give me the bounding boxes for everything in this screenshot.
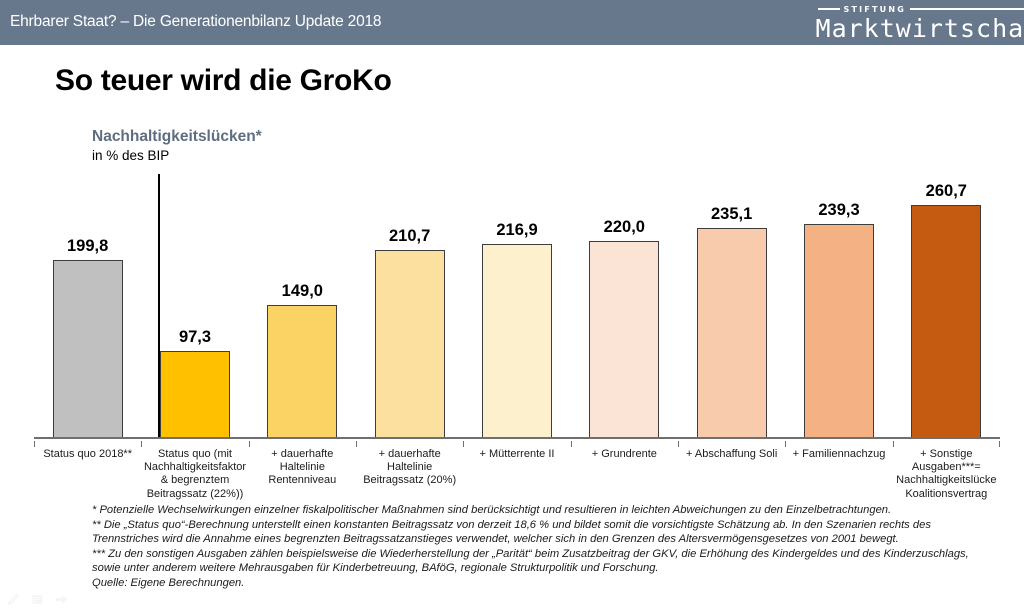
category-label-line: Haltelinie [356,461,463,474]
axis-tick [571,441,572,447]
bar-value-label: 210,7 [389,227,430,246]
category-label-line: Koalitionsvertrag [893,488,1000,501]
category-label: + SonstigeAusgaben***=Nachhaltigkeitslüc… [893,448,1000,501]
axis-tick [893,441,894,447]
organization-logo: STIFTUNG Marktwirtscha [816,3,1024,42]
bar[interactable] [375,250,445,438]
axis-tick [34,441,35,447]
axis-tick [141,441,142,447]
axis-tick [999,441,1000,447]
page-title: So teuer wird die GroKo [55,64,391,98]
bar-value-label: 235,1 [711,205,752,224]
bar-group: 97,3 [160,328,230,438]
bar[interactable] [53,260,123,438]
document-icon [30,593,45,606]
chart-baseline-axis [34,437,1000,439]
bar-value-label: 216,9 [496,221,537,240]
bar-value-label: 199,8 [67,237,108,256]
category-label-line: Nachhaltigkeitslücke [893,474,1000,487]
header-bar: Ehrbarer Staat? – Die Generationenbilanz… [0,0,1024,45]
chart-axis-caption: Nachhaltigkeitslücken* [92,128,262,146]
bar-group: 199,8 [53,237,123,438]
category-label-line: + Grundrente [571,448,678,461]
axis-tick [785,441,786,447]
footnote-line: *** Zu den sonstigen Ausgaben zählen bei… [92,547,992,576]
watermark-toolbar [6,593,69,606]
category-label-line: Rentenniveau [249,474,356,487]
bar[interactable] [697,228,767,438]
category-label-line: Status quo 2018** [34,448,141,461]
category-label: Status quo 2018** [34,448,141,461]
bar-group: 210,7 [375,227,445,438]
bar-value-label: 97,3 [179,328,211,347]
bar-group: 220,0 [589,218,659,438]
axis-tick [463,441,464,447]
header-title: Ehrbarer Staat? – Die Generationenbilanz… [10,13,381,31]
category-label: Status quo (mitNachhaltigkeitsfaktor& be… [141,448,248,501]
axis-tick [356,441,357,447]
bar-group: 260,7 [911,182,981,438]
category-label-line: & begrenztem [141,474,248,487]
category-label-line: Beitragssatz (20%) [356,474,463,487]
bar[interactable] [589,241,659,438]
chart-plot-area: 199,897,3149,0210,7216,9220,0235,1239,32… [34,170,1000,438]
logo-wordmark: Marktwirtscha [816,16,1024,42]
logo-kicker-text: STIFTUNG [844,5,906,14]
pencil-icon [6,593,21,606]
category-label: + Abschaffung Soli [678,448,785,461]
bar-group: 216,9 [482,221,552,438]
bar[interactable] [911,205,981,438]
category-label: + dauerhafteHaltelinieRentenniveau [249,448,356,488]
category-label-line: + Abschaffung Soli [678,448,785,461]
bar-value-label: 260,7 [926,182,967,201]
bar-value-label: 239,3 [818,201,859,220]
bar[interactable] [267,305,337,438]
bar-group: 239,3 [804,201,874,438]
chart-axis-unit: in % des BIP [92,148,169,163]
category-label-line: + Sonstige [893,448,1000,461]
logo-rule-right [910,8,1024,10]
scenario-divider-line [158,174,160,438]
logo-rule-left [818,8,840,10]
category-label-line: + Mütterrente II [463,448,570,461]
footnotes: * Potenzielle Wechselwirkungen einzelner… [92,503,992,591]
bar[interactable] [482,244,552,438]
axis-tick [678,441,679,447]
category-label-line: Status quo (mit [141,448,248,461]
category-label-line: Ausgaben***= [893,461,1000,474]
footnote-line: ** Die „Status quo“-Berechnung unterstel… [92,518,992,547]
arrow-right-icon [54,593,69,606]
bar-group: 235,1 [697,205,767,438]
category-label-line: Beitragssatz (22%)) [141,488,248,501]
category-label: + Grundrente [571,448,678,461]
footnote-line: * Potenzielle Wechselwirkungen einzelner… [92,503,992,518]
category-label-line: + dauerhafte [249,448,356,461]
bar-group: 149,0 [267,282,337,438]
category-label-line: Haltelinie [249,461,356,474]
chart-category-labels: Status quo 2018**Status quo (mitNachhalt… [34,441,1000,501]
category-label: + Familiennachzug [785,448,892,461]
category-label-line: + dauerhafte [356,448,463,461]
bar-value-label: 220,0 [604,218,645,237]
category-label: + dauerhafteHaltelinieBeitragssatz (20%) [356,448,463,488]
category-label-line: Nachhaltigkeitsfaktor [141,461,248,474]
bar[interactable] [804,224,874,438]
axis-tick [249,441,250,447]
category-label: + Mütterrente II [463,448,570,461]
footnote-line: Quelle: Eigene Berechnungen. [92,576,992,591]
bar-value-label: 149,0 [282,282,323,301]
bar[interactable] [160,351,230,438]
category-label-line: + Familiennachzug [785,448,892,461]
